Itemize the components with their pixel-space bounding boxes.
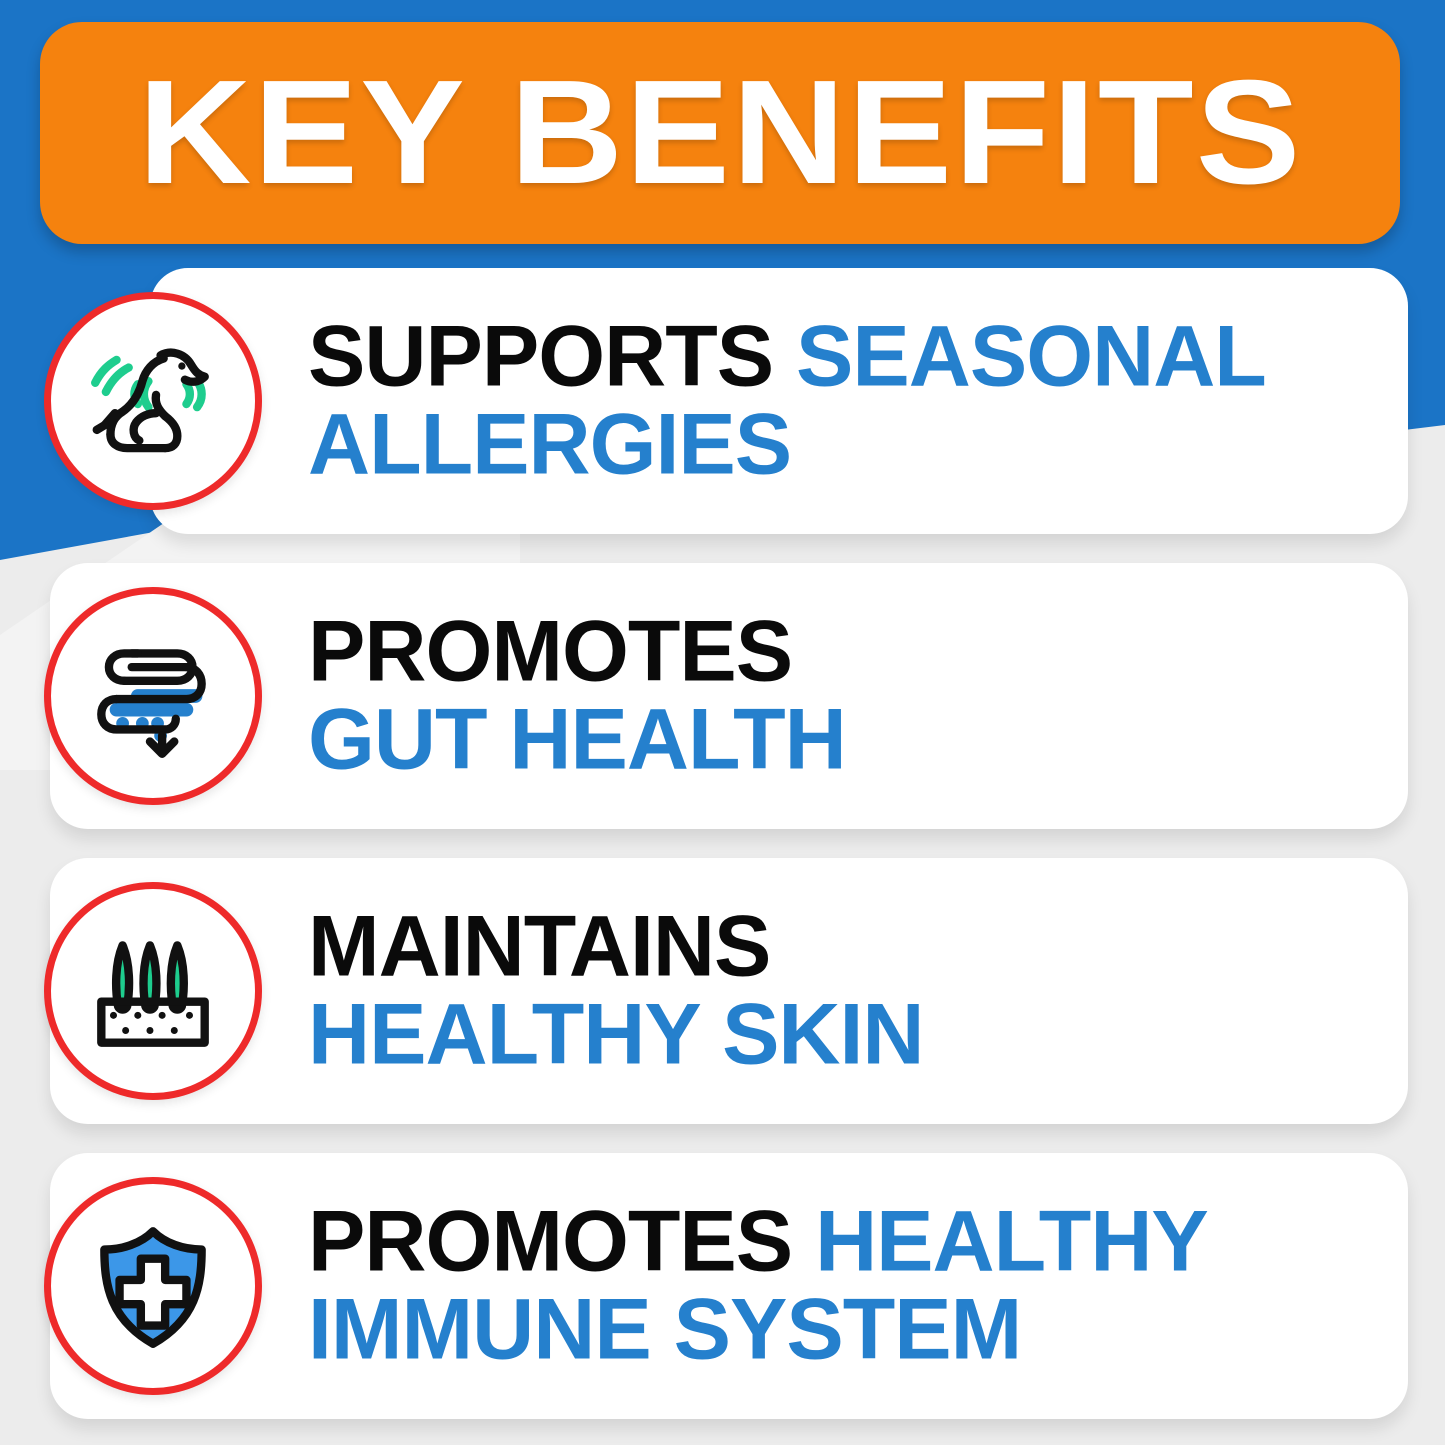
key-benefits-banner: KEY BENEFITS <box>40 22 1400 244</box>
benefit-line1-black: PROMOTES <box>308 603 792 699</box>
skin-hair-follicle-icon <box>44 882 262 1100</box>
benefit-card-immune-system: PROMOTES HEALTHY IMMUNE SYSTEM <box>50 1153 1408 1419</box>
page-title: KEY BENEFITS <box>138 59 1303 207</box>
benefit-line2-blue: GUT HEALTH <box>308 696 1368 784</box>
benefit-line1-black: SUPPORTS <box>308 308 773 404</box>
benefit-text: SUPPORTS SEASONAL ALLERGIES <box>308 313 1388 488</box>
key-benefits-infographic: KEY BENEFITS <box>0 0 1445 1445</box>
dog-scratching-icon <box>44 292 262 510</box>
benefits-list: SUPPORTS SEASONAL ALLERGIES <box>0 268 1445 1445</box>
benefit-line1-blue: HEALTHY <box>815 1193 1208 1289</box>
shield-cross-icon <box>44 1177 262 1395</box>
benefit-card-gut-health: PROMOTES GUT HEALTH <box>50 563 1408 829</box>
benefit-text: PROMOTES GUT HEALTH <box>308 608 1368 783</box>
benefit-card-healthy-skin: MAINTAINS HEALTHY SKIN <box>50 858 1408 1124</box>
benefit-line1-black: PROMOTES <box>308 1193 792 1289</box>
benefit-card-seasonal-allergies: SUPPORTS SEASONAL ALLERGIES <box>150 268 1408 534</box>
benefit-line1-blue: SEASONAL <box>796 308 1266 404</box>
benefit-line2-blue: IMMUNE SYSTEM <box>308 1286 1368 1374</box>
benefit-line2-blue: HEALTHY SKIN <box>308 991 1368 1079</box>
benefit-line1-black: MAINTAINS <box>308 898 770 994</box>
benefit-text: PROMOTES HEALTHY IMMUNE SYSTEM <box>308 1198 1368 1373</box>
intestine-gut-icon <box>44 587 262 805</box>
benefit-line2-blue: ALLERGIES <box>308 401 1388 489</box>
benefit-text: MAINTAINS HEALTHY SKIN <box>308 903 1368 1078</box>
